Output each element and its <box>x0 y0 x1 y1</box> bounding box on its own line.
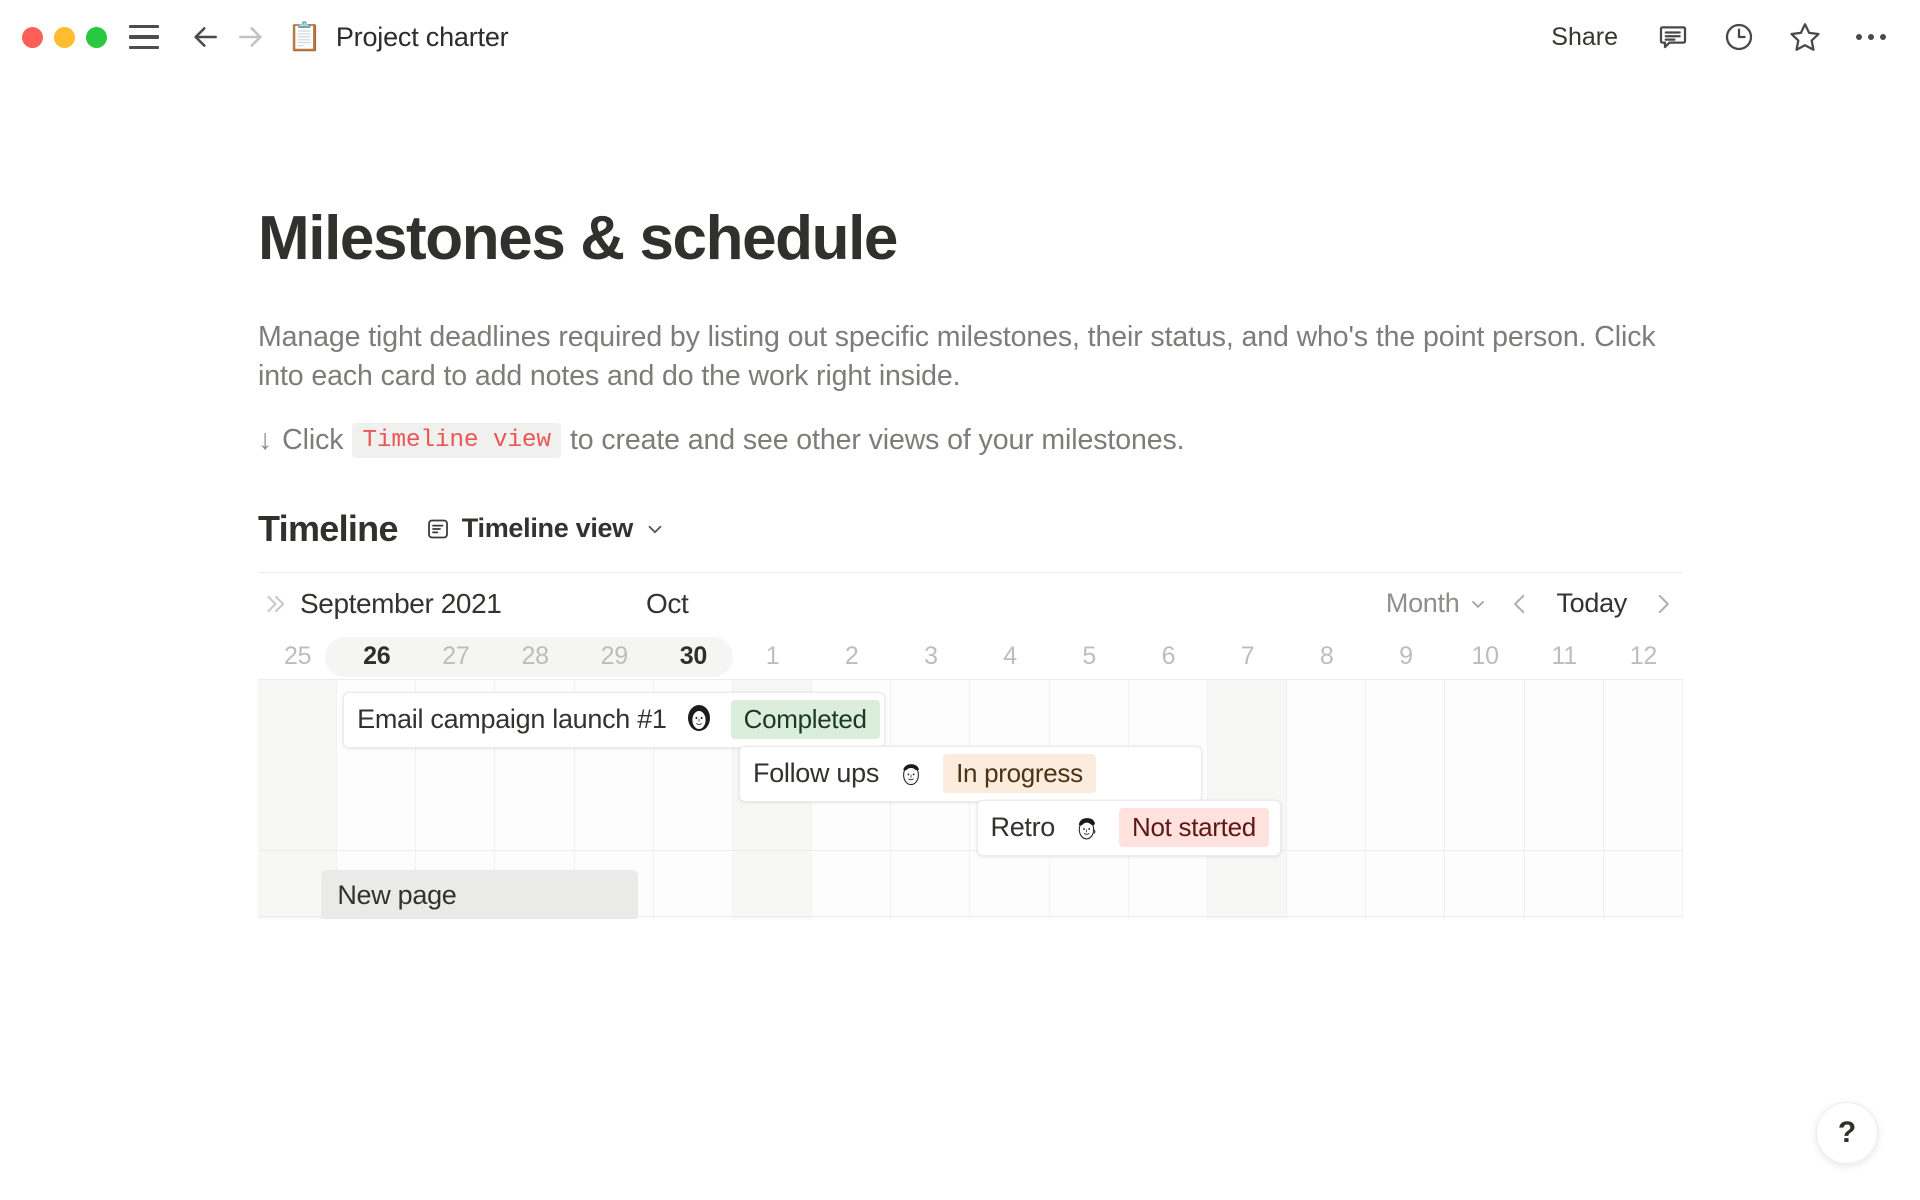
timeline-grid[interactable]: Email campaign launch #1CompletedFollow … <box>258 679 1683 919</box>
timeline-day-3[interactable]: 3 <box>891 635 970 679</box>
avatar-dark-hair-icon <box>682 703 716 737</box>
avatar-wavy-hair-icon <box>1070 811 1104 845</box>
timeline-bar[interactable]: RetroNot started <box>977 800 1282 856</box>
timeline-next-month[interactable]: Oct <box>646 588 688 620</box>
tab-timeline-view[interactable]: Timeline view <box>420 510 671 547</box>
callout-prefix: Click <box>282 424 343 457</box>
breadcrumb[interactable]: 📋 Project charter <box>287 22 508 53</box>
timeline-day-12[interactable]: 12 <box>1604 635 1683 679</box>
timeline-row-divider <box>258 850 1683 852</box>
timeline-column <box>1604 680 1683 919</box>
timeline-column <box>1446 680 1525 919</box>
timeline-day-30[interactable]: 30 <box>654 635 733 679</box>
callout-line: ↓ Click Timeline view to create and see … <box>258 423 1920 458</box>
avatar-short-hair-icon <box>894 757 928 791</box>
timeline-view-icon <box>425 516 451 542</box>
hamburger-icon[interactable] <box>129 25 159 49</box>
ellipsis-icon[interactable] <box>1852 18 1890 56</box>
timeline-day-6[interactable]: 6 <box>1129 635 1208 679</box>
today-button[interactable]: Today <box>1546 584 1637 623</box>
timeline-day-2[interactable]: 2 <box>812 635 891 679</box>
chevron-left-icon[interactable] <box>1500 584 1540 624</box>
timeline-day-26[interactable]: 26 <box>337 635 416 679</box>
close-window-button[interactable] <box>22 27 43 48</box>
timeline-bar-title: Retro <box>991 812 1056 843</box>
clock-icon[interactable] <box>1720 18 1758 56</box>
chevron-down-icon <box>644 518 666 540</box>
inline-code-timeline-view: Timeline view <box>352 423 561 458</box>
timeline-column <box>1366 680 1445 919</box>
chevron-right-icon[interactable] <box>1643 584 1683 624</box>
arrow-left-icon[interactable] <box>185 17 225 57</box>
window-titlebar: 📋 Project charter Share <box>0 0 1920 74</box>
timeline-day-25[interactable]: 25 <box>258 635 337 679</box>
timeline-current-month[interactable]: September 2021 <box>300 588 501 620</box>
page-description: Manage tight deadlines required by listi… <box>258 318 1658 397</box>
chevron-down-icon <box>1468 594 1488 614</box>
timeline-bar[interactable]: Email campaign launch #1Completed <box>343 692 885 748</box>
timeline-zoom-select[interactable]: Month <box>1380 584 1495 623</box>
timeline-day-9[interactable]: 9 <box>1366 635 1445 679</box>
timeline-date-ruler: 252627282930123456789101112 <box>258 635 1683 679</box>
timeline-day-1[interactable]: 1 <box>733 635 812 679</box>
arrow-right-icon[interactable] <box>231 17 271 57</box>
timeline-day-29[interactable]: 29 <box>575 635 654 679</box>
callout-suffix: to create and see other views of your mi… <box>570 424 1185 457</box>
zoom-window-button[interactable] <box>86 27 107 48</box>
timeline-bar[interactable]: Follow upsIn progress <box>739 746 1202 802</box>
timeline-day-7[interactable]: 7 <box>1208 635 1287 679</box>
timeline-section-heading: Timeline Timeline view <box>258 508 1920 550</box>
chevron-double-right-icon[interactable] <box>258 587 292 621</box>
document-title: Project charter <box>336 22 509 53</box>
comment-icon[interactable] <box>1654 18 1692 56</box>
star-icon[interactable] <box>1786 18 1824 56</box>
timeline-row-divider <box>258 916 1683 918</box>
timeline-column <box>1287 680 1366 919</box>
traffic-lights <box>22 27 107 48</box>
timeline-day-8[interactable]: 8 <box>1287 635 1366 679</box>
timeline-day-27[interactable]: 27 <box>416 635 495 679</box>
status-badge: Not started <box>1119 808 1269 847</box>
titlebar-actions: Share <box>1543 18 1890 56</box>
share-button[interactable]: Share <box>1543 19 1626 56</box>
timeline-zoom-label: Month <box>1386 588 1460 619</box>
timeline-nav-controls: Month Today <box>1380 584 1683 624</box>
timeline-day-28[interactable]: 28 <box>496 635 575 679</box>
new-page-button[interactable]: New page <box>321 870 638 919</box>
timeline-column <box>1525 680 1604 919</box>
clipboard-icon: 📋 <box>287 23 322 51</box>
timeline-bar-title: Email campaign launch #1 <box>357 704 666 735</box>
arrow-down-icon: ↓ <box>258 424 272 457</box>
status-badge: Completed <box>731 700 880 739</box>
timeline-heading-text: Timeline <box>258 508 398 550</box>
timeline-day-10[interactable]: 10 <box>1446 635 1525 679</box>
timeline-bar-title: Follow ups <box>753 758 879 789</box>
page-content: Milestones & schedule Manage tight deadl… <box>0 74 1920 919</box>
status-badge: In progress <box>943 754 1096 793</box>
timeline-day-5[interactable]: 5 <box>1050 635 1129 679</box>
page-title: Milestones & schedule <box>258 208 1920 270</box>
timeline-widget: September 2021 Oct Month Today <box>258 572 1683 919</box>
help-button[interactable]: ? <box>1816 1102 1878 1164</box>
minimize-window-button[interactable] <box>54 27 75 48</box>
timeline-view-label: Timeline view <box>462 513 633 544</box>
timeline-day-11[interactable]: 11 <box>1525 635 1604 679</box>
timeline-controls: September 2021 Oct Month Today <box>258 573 1683 635</box>
timeline-day-4[interactable]: 4 <box>971 635 1050 679</box>
